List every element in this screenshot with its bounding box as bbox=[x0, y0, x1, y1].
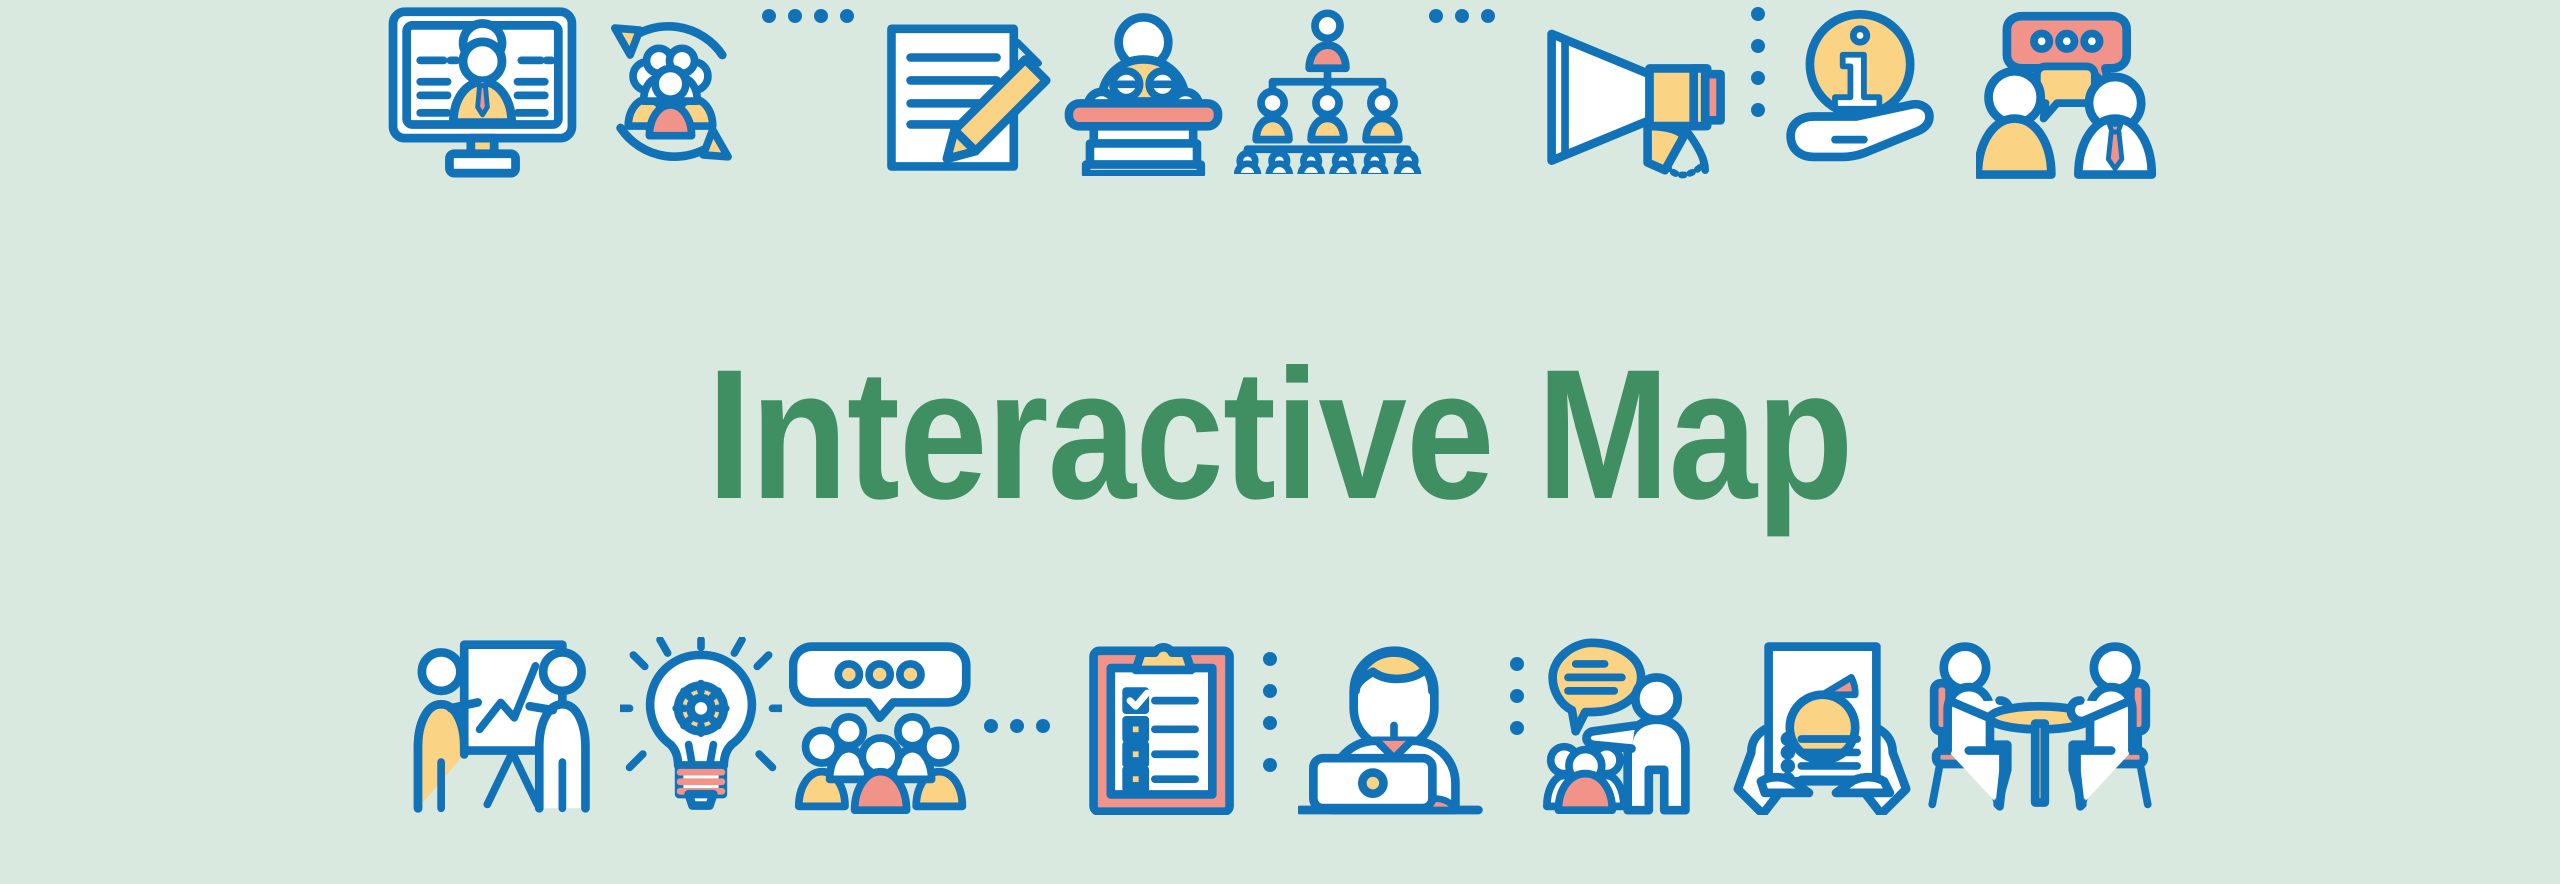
org-chart-icon bbox=[1231, 4, 1426, 174]
dot-separator-top-1 bbox=[758, 4, 876, 28]
bottom-icon-row bbox=[0, 576, 2560, 884]
page-title: Interactive Map bbox=[707, 343, 1852, 528]
banner-title-wrap: Interactive Map bbox=[0, 294, 2560, 576]
lightbulb-gear-icon bbox=[616, 637, 786, 815]
person-laptop-icon bbox=[1294, 637, 1494, 815]
dot-separator-bottom-3 bbox=[1494, 656, 1540, 796]
top-icon-row bbox=[0, 0, 2560, 294]
dot-separator-bottom-2 bbox=[1246, 651, 1294, 801]
meeting-table-icon bbox=[1920, 637, 2160, 815]
clipboard-checklist-icon bbox=[1081, 637, 1246, 815]
hand-info-icon bbox=[1778, 4, 1973, 174]
dot-separator-bottom-1 bbox=[981, 714, 1081, 738]
team-cycle-icon bbox=[583, 4, 758, 179]
speaker-podium-icon bbox=[1056, 4, 1231, 176]
dot-separator-top-2 bbox=[1426, 4, 1538, 28]
dot-separator-top-3 bbox=[1738, 4, 1778, 124]
two-people-chat-icon bbox=[1973, 4, 2178, 179]
hands-report-chart-icon bbox=[1725, 637, 1920, 815]
flipchart-presentation-icon bbox=[401, 637, 616, 815]
megaphone-icon bbox=[1538, 4, 1738, 179]
notes-pencil-icon bbox=[876, 4, 1056, 176]
banner: Interactive Map bbox=[0, 0, 2560, 884]
group-speech-icon bbox=[786, 637, 981, 815]
presenter-audience-icon bbox=[1540, 637, 1725, 815]
monitor-profile-icon bbox=[383, 4, 583, 179]
